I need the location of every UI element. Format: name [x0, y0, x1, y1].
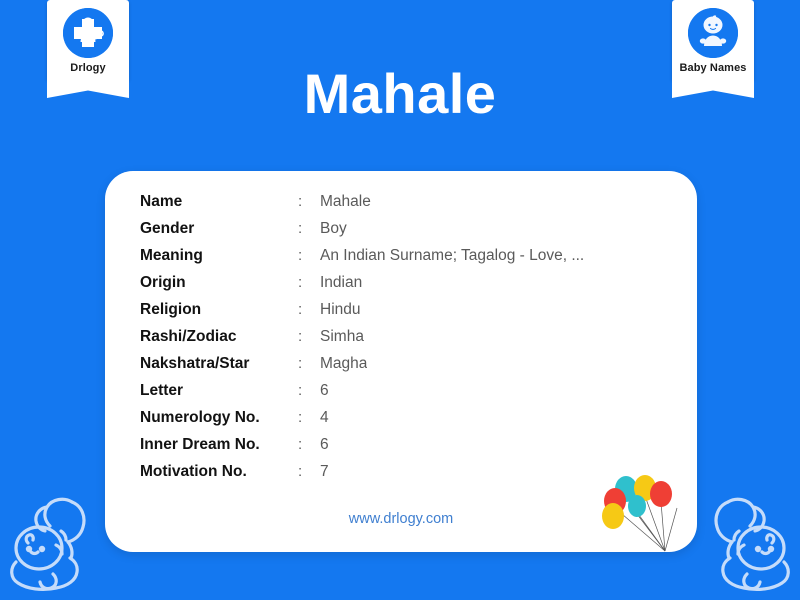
row-value: 6	[320, 436, 329, 454]
row-separator: :	[298, 193, 320, 210]
name-details-card: Name : Mahale Gender : Boy Meaning : An …	[105, 171, 697, 552]
row-value: Hindu	[320, 301, 361, 319]
baby-names-badge[interactable]: Baby Names	[672, 0, 754, 98]
badge-label: Drlogy	[51, 62, 125, 74]
drlogy-medical-logo-icon	[63, 8, 113, 58]
row-label: Religion	[140, 301, 298, 319]
table-row: Meaning : An Indian Surname; Tagalog - L…	[140, 247, 680, 274]
row-label: Gender	[140, 220, 298, 238]
table-row: Rashi/Zodiac : Simha	[140, 328, 680, 355]
balloons-illustration	[593, 456, 693, 552]
table-row: Name : Mahale	[140, 193, 680, 220]
row-value: Indian	[320, 274, 362, 292]
row-label: Name	[140, 193, 298, 211]
row-value: 4	[320, 409, 329, 427]
ribbon-tail	[672, 80, 754, 98]
row-label: Letter	[140, 382, 298, 400]
row-value: 6	[320, 382, 329, 400]
row-separator: :	[298, 274, 320, 291]
badge-label: Baby Names	[676, 62, 750, 74]
row-separator: :	[298, 382, 320, 399]
mother-and-baby-outline-icon	[0, 486, 100, 598]
row-value: Simha	[320, 328, 364, 346]
detail-table: Name : Mahale Gender : Boy Meaning : An …	[140, 193, 680, 490]
drlogy-brand-badge[interactable]: Drlogy	[47, 0, 129, 98]
row-label: Rashi/Zodiac	[140, 328, 298, 346]
row-value: Mahale	[320, 193, 371, 211]
table-row: Gender : Boy	[140, 220, 680, 247]
row-separator: :	[298, 409, 320, 426]
badge-body: Baby Names	[672, 0, 754, 80]
row-separator: :	[298, 301, 320, 318]
row-label: Inner Dream No.	[140, 436, 298, 454]
row-value: Magha	[320, 355, 367, 373]
row-label: Origin	[140, 274, 298, 292]
row-label: Meaning	[140, 247, 298, 265]
row-separator: :	[298, 328, 320, 345]
row-label: Nakshatra/Star	[140, 355, 298, 373]
mother-and-baby-outline-icon	[700, 486, 800, 598]
row-value: Boy	[320, 220, 347, 238]
row-separator: :	[298, 463, 320, 480]
table-row: Origin : Indian	[140, 274, 680, 301]
row-value: An Indian Surname; Tagalog - Love, ...	[320, 247, 584, 265]
row-separator: :	[298, 355, 320, 372]
row-separator: :	[298, 220, 320, 237]
row-label: Motivation No.	[140, 463, 298, 481]
poster-canvas: Drlogy Baby Names M	[0, 0, 800, 600]
row-value: 7	[320, 463, 329, 481]
table-row: Religion : Hindu	[140, 301, 680, 328]
baby-icon	[688, 8, 738, 58]
table-row: Nakshatra/Star : Magha	[140, 355, 680, 382]
table-row: Numerology No. : 4	[140, 409, 680, 436]
ribbon-tail	[47, 80, 129, 98]
table-row: Letter : 6	[140, 382, 680, 409]
badge-body: Drlogy	[47, 0, 129, 80]
row-separator: :	[298, 436, 320, 453]
row-label: Numerology No.	[140, 409, 298, 427]
row-separator: :	[298, 247, 320, 264]
